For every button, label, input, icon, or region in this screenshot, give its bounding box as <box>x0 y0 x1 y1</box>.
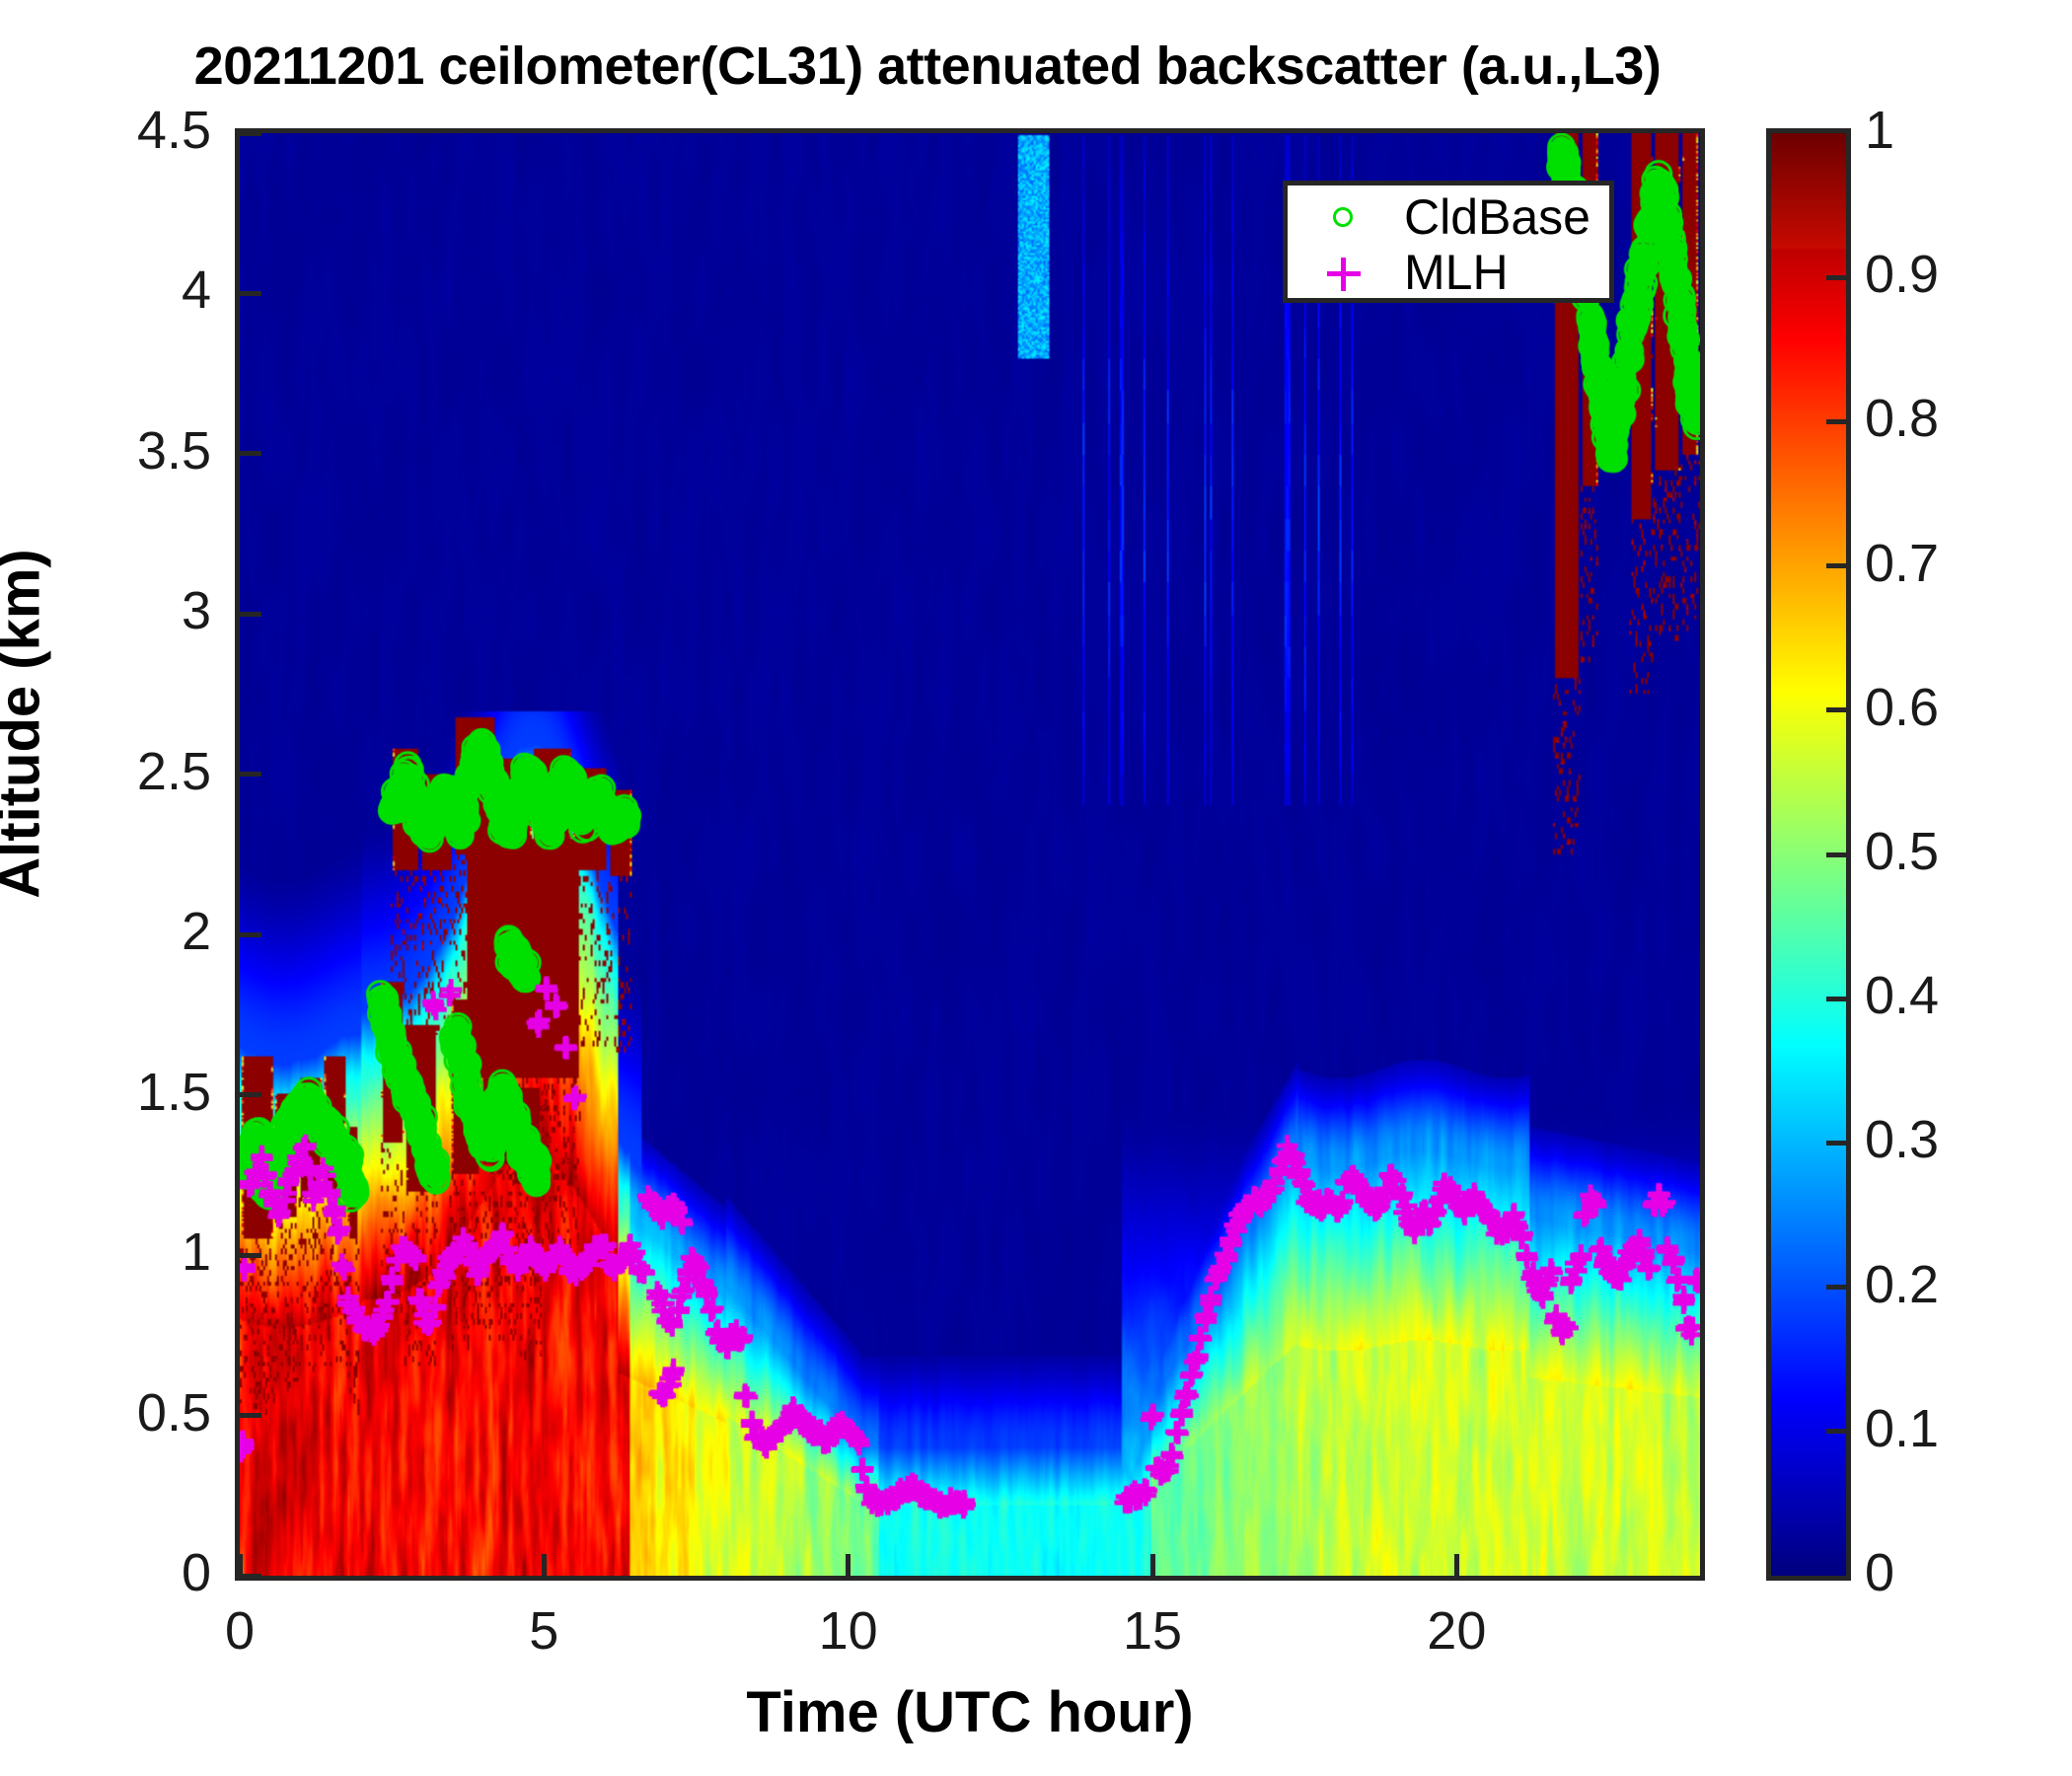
y-tick-mark <box>240 612 261 617</box>
x-tick-label: 10 <box>750 1604 947 1658</box>
colorbar-tick-mark <box>1826 1141 1846 1146</box>
colorbar-tick-label: 0.6 <box>1865 681 1939 734</box>
y-tick-label: 4.5 <box>14 104 211 157</box>
colorbar-tick-label: 0.5 <box>1865 825 1939 878</box>
plus-marker-icon <box>1323 245 1367 302</box>
colorbar-tick-label: 0 <box>1865 1546 1894 1599</box>
y-tick-mark <box>240 291 261 296</box>
circle-marker-icon <box>1323 189 1367 247</box>
colorbar-tick-label: 0.1 <box>1865 1402 1939 1455</box>
x-tick-label: 15 <box>1054 1604 1251 1658</box>
chart-root: 20211201 ceilometer(CL31) attenuated bac… <box>0 0 2072 1776</box>
y-tick-label: 4 <box>14 263 211 317</box>
legend: CldBase MLH <box>1283 181 1614 303</box>
colorbar-tick-mark <box>1826 275 1846 280</box>
colorbar-tick-mark <box>1826 563 1846 568</box>
colorbar-tick-label: 0.9 <box>1865 248 1939 301</box>
y-tick-mark <box>240 1574 261 1579</box>
series-overlay <box>240 133 1700 1576</box>
y-tick-mark <box>240 131 261 136</box>
x-tick-mark <box>846 1554 851 1576</box>
colorbar-tick-label: 0.3 <box>1865 1113 1939 1166</box>
colorbar-tick-label: 1 <box>1865 104 1894 157</box>
y-tick-label: 0 <box>14 1546 211 1599</box>
colorbar-tick-label: 0.4 <box>1865 969 1939 1022</box>
x-tick-mark <box>1150 1554 1155 1576</box>
page-title: 20211201 ceilometer(CL31) attenuated bac… <box>0 36 1855 97</box>
y-tick-mark <box>240 772 261 777</box>
x-tick-mark <box>238 1554 243 1576</box>
legend-item-mlh: MLH <box>1288 245 1609 302</box>
legend-label-cldbase: CldBase <box>1404 189 1591 247</box>
x-tick-label: 20 <box>1358 1604 1555 1658</box>
x-tick-label: 0 <box>141 1604 338 1658</box>
y-tick-mark <box>240 932 261 937</box>
y-tick-mark <box>240 1253 261 1258</box>
y-tick-label: 1 <box>14 1225 211 1279</box>
y-tick-mark <box>240 451 261 456</box>
y-tick-label: 0.5 <box>14 1386 211 1440</box>
colorbar-tick-label: 0.2 <box>1865 1258 1939 1311</box>
y-tick-mark <box>240 1092 261 1097</box>
colorbar-tick-mark <box>1826 419 1846 424</box>
x-tick-mark <box>542 1554 547 1576</box>
plot-area <box>235 128 1705 1581</box>
colorbar-tick-mark <box>1826 852 1846 857</box>
legend-item-cldbase: CldBase <box>1288 189 1609 247</box>
y-tick-label: 1.5 <box>14 1066 211 1119</box>
y-tick-mark <box>240 1413 261 1418</box>
x-tick-label: 5 <box>445 1604 642 1658</box>
y-axis-label: Altitude (km) <box>0 379 53 1070</box>
legend-label-mlh: MLH <box>1404 245 1509 302</box>
x-tick-mark <box>1454 1554 1459 1576</box>
colorbar-tick-label: 0.8 <box>1865 392 1939 445</box>
colorbar-tick-mark <box>1826 1429 1846 1434</box>
colorbar-tick-mark <box>1826 707 1846 712</box>
colorbar-tick-mark <box>1826 997 1846 1001</box>
colorbar-tick-mark <box>1826 1285 1846 1290</box>
x-axis-label: Time (UTC hour) <box>235 1679 1705 1745</box>
colorbar-tick-label: 0.7 <box>1865 537 1939 590</box>
